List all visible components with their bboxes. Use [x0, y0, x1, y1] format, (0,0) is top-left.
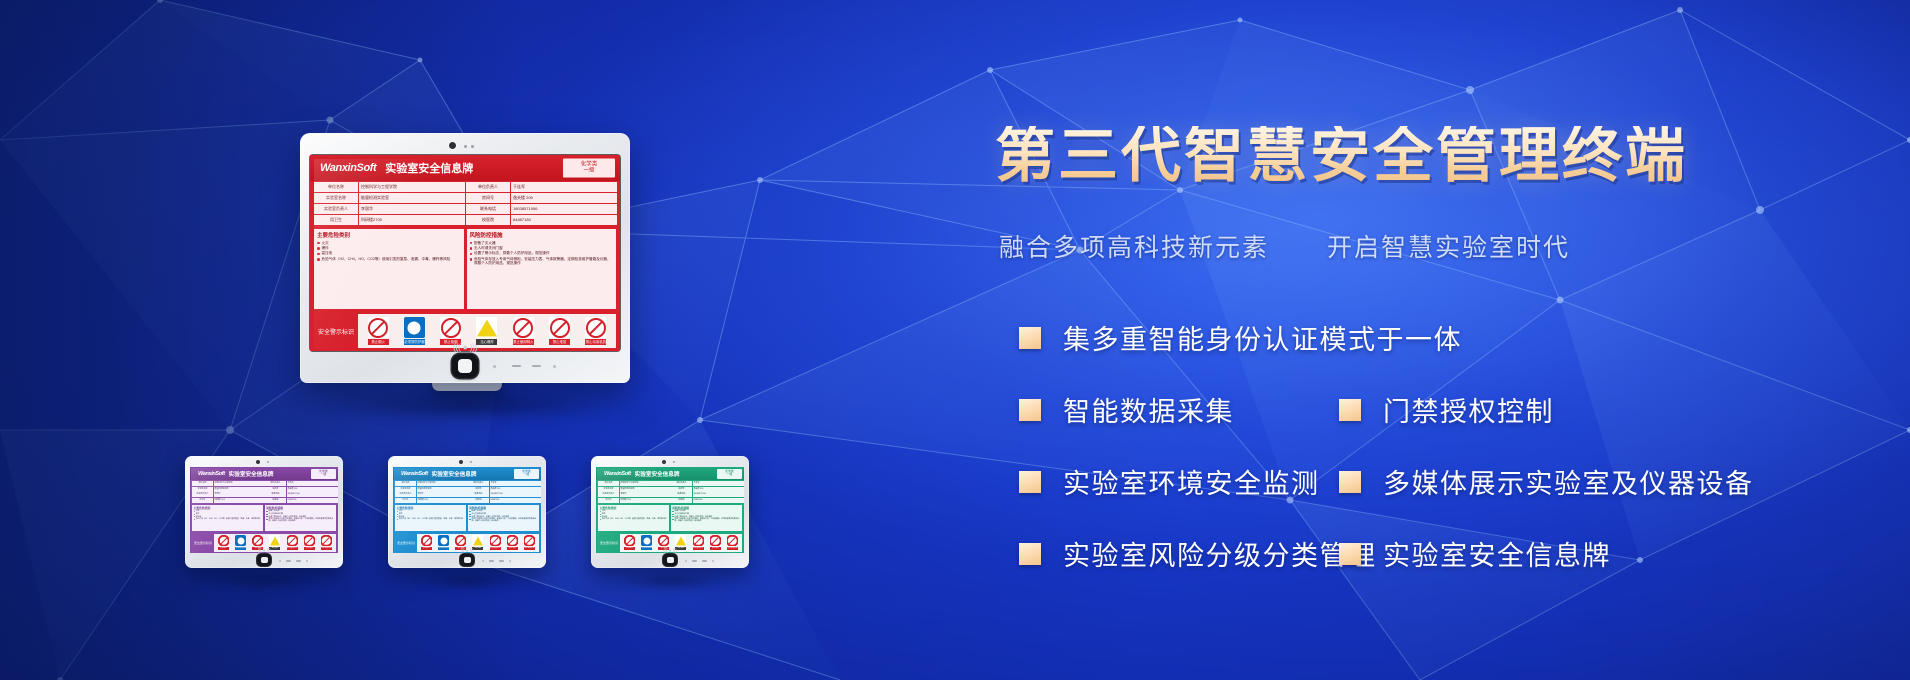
board-info-table: 单位名称控制科学与工程学院单位负责人于连军 实验室名称能量检测实验室房间号逸夫楼… [190, 480, 338, 503]
feature-item: 智能数据采集 [1019, 390, 1234, 429]
cell-key: 实验室负责人 [192, 492, 213, 497]
cell-key: 实验室负责人 [598, 492, 619, 497]
mandatory-icon [438, 535, 449, 546]
sign-caption: 禁止使用明火 [287, 547, 298, 550]
feature-label: 实验室风险分级分类管理 [1063, 534, 1377, 573]
section-heading: 风险防控措施 [469, 506, 537, 510]
cell-value: 84887180 [693, 498, 744, 503]
table-row: 单位名称控制科学与工程学院单位负责人于连军 [598, 481, 742, 486]
table-row: 实验室负责人李国华联系电话18038571956 [598, 492, 742, 497]
prohibit-icon [513, 317, 534, 338]
feature-list: 集多重智能身份认证模式于一体 智能数据采集 门禁授权控制 实验室环境安全监测 [1019, 318, 1879, 606]
list-item-text: 危险气体存放入专用气体储柜，安装压力表、气体报警器，定期检查维护管路及仪器，佩戴… [472, 518, 538, 522]
hero-text-column: 第三代智慧安全管理终端 融合多项高科技新元素开启智慧实验室时代 集多重智能身份认… [995, 0, 1895, 680]
hazard-class-badge: 化学类一级 [717, 469, 742, 479]
sign-caption: 禁止堆放 [710, 547, 721, 550]
cell-key: 实验室负责人 [395, 492, 416, 497]
cell-value: 科研楼2705 [620, 498, 671, 503]
page-subtitle: 融合多项高科技新元素开启智慧实验室时代 [999, 228, 1570, 264]
main-tablet-bezel: WanxinSoft 实验室安全信息牌 化学类 一级 单位名称 控制科学与工程学… [310, 155, 620, 351]
board-title: 实验室安全信息牌 [432, 470, 477, 478]
no-machine-use-sign: 禁止动用机具 [727, 535, 738, 550]
hazard-category-section: 主要危险类别火灾爆炸高压电危险气体（H2、CH4、HO、CO2等）使用引发的窒息… [598, 505, 669, 532]
risk-control-section: 风险防控措施配备了灭火器无人时请关闭门窗设置了警示标志，穿戴个人防护用品，规范操… [468, 505, 539, 532]
prohibit-icon [524, 535, 535, 546]
prohibit-icon [658, 535, 669, 546]
feature-label: 实验室环境安全监测 [1063, 462, 1320, 501]
cell-value: 于连军 [693, 481, 744, 486]
no-open-flame-sign: 禁止使用明火 [513, 317, 534, 345]
section-heading: 主要危险类别 [600, 506, 668, 510]
subtitle-left: 融合多项高科技新元素 [999, 234, 1269, 262]
cell-value: 逸夫楼 205 [490, 487, 541, 492]
sign-caption: 禁止动用机具 [727, 547, 738, 550]
sign-caption: 禁止动用机具 [585, 339, 606, 345]
list-item-text: 无人时请关闭门窗 [474, 246, 613, 250]
list-item-text: 配备了灭火器 [474, 241, 613, 245]
table-row: 实验室名称能量检测实验室房间号逸夫楼 205 [598, 487, 742, 492]
bullet-square-icon [1019, 399, 1041, 421]
list-item: 高压电 [317, 251, 461, 255]
fingerprint-home-button[interactable] [460, 554, 474, 566]
board-header: WanxinSoft 实验室安全信息牌 化学类 一级 [310, 155, 620, 181]
cell-value: 84887180 [287, 498, 338, 503]
cell-value: 控制科学与工程学院 [359, 182, 465, 192]
no-open-flame-sign: 禁止使用明火 [490, 535, 501, 550]
cell-key: 单位名称 [314, 182, 358, 192]
cell-key: 房间号 [671, 487, 692, 492]
warning-triangle-icon [269, 535, 280, 546]
cell-key: 实验室名称 [598, 487, 619, 492]
sign-caption: 禁止动用机具 [524, 547, 535, 550]
cell-value: 科研楼2705 [417, 498, 468, 503]
cell-value: 逸夫楼 205 [693, 487, 744, 492]
hazard-category-section: 主要危险类别 火灾 爆炸 高压电 危险气体（H2、CH4、HO、CO2等）使用引… [314, 229, 464, 309]
sign-caption: 必须穿防护服 [404, 339, 425, 345]
indicator-dot [493, 365, 496, 368]
cell-value: 84887180 [490, 498, 541, 503]
section-heading: 主要危险类别 [317, 231, 461, 239]
hazard-class-line2: 一级 [321, 472, 327, 476]
hazard-class-line2: 一级 [583, 168, 594, 174]
cell-value: 能量检测实验室 [417, 487, 468, 492]
table-row: 实验室负责人 李国华 联系电话 18038571956 [314, 204, 616, 214]
feature-item: 实验室风险分级分类管理 [1019, 534, 1377, 573]
indicator-dots [482, 560, 511, 562]
hero-banner: WanxinSoft 实验室安全信息牌 化学类 一级 单位名称 控制科学与工程学… [0, 0, 1910, 680]
cell-key: 单位负责人 [468, 481, 489, 486]
mandatory-icon [641, 535, 652, 546]
no-open-flame-sign: 禁止使用明火 [693, 535, 704, 550]
prohibit-icon [455, 535, 466, 546]
cell-value: 于连军 [287, 481, 338, 486]
bullet-square-icon [1339, 543, 1361, 565]
board-sections: 主要危险类别火灾爆炸高压电危险气体（H2、CH4、HO、CO2等）使用引发的窒息… [393, 503, 541, 532]
list-item-text: 高压电 [322, 251, 461, 255]
list-item: 无人时请关闭门窗 [470, 246, 614, 250]
mini-tablet-shadow [191, 570, 337, 592]
section-heading: 风险防控措施 [470, 231, 614, 239]
prohibit-icon [549, 317, 570, 338]
prohibit-icon [490, 535, 501, 546]
no-open-flame-sign: 禁止使用明火 [287, 535, 298, 550]
feature-item: 门禁授权控制 [1339, 390, 1554, 429]
cell-key: 房间号 [466, 193, 510, 203]
no-smoking-sign: 禁止烟火 [218, 535, 229, 550]
list-item-text: 危险气体存放入专用气体储柜，安装压力表、气体报警器，定期检查维护管路及仪器，佩戴… [675, 518, 741, 522]
sign-caption: 禁止烟火 [368, 339, 389, 345]
camera-icon [256, 460, 260, 464]
risk-control-section: 风险防控措施 配备了灭火器 无人时请关闭门窗 设置了警示标志，穿戴个人防护用品，… [467, 229, 617, 309]
board-sections: 主要危险类别火灾爆炸高压电危险气体（H2、CH4、HO、CO2等）使用引发的窒息… [596, 503, 744, 532]
feature-row: 集多重智能身份认证模式于一体 [1019, 318, 1879, 390]
cell-key: 联系电话 [466, 204, 510, 214]
cell-key: 单位负责人 [265, 481, 286, 486]
fingerprint-home-button[interactable] [257, 554, 271, 566]
warning-label: 安全警示标识 [314, 327, 358, 336]
feature-item: 多媒体展示实验室及仪器设备 [1339, 462, 1754, 501]
no-stacking-sign: 禁止堆放 [507, 535, 518, 550]
board-sections: 主要危险类别 火灾 爆炸 高压电 危险气体（H2、CH4、HO、CO2等）使用引… [310, 226, 620, 311]
cell-key: 联系电话 [671, 492, 692, 497]
no-smoking-sign: 禁止烟火 [421, 535, 432, 550]
cell-value: 科研楼2705 [359, 215, 465, 225]
mandatory-icon [404, 317, 425, 338]
prohibit-icon [321, 535, 332, 546]
section-heading: 风险防控措施 [672, 506, 740, 510]
sign-caption: 禁止使用明火 [693, 547, 704, 550]
board-title: 实验室安全信息牌 [385, 160, 473, 176]
risk-control-section: 风险防控措施配备了灭火器无人时请关闭门窗设置了警示标志，穿戴个人防护用品，规范操… [265, 505, 336, 532]
sensor-icon [464, 145, 467, 148]
sign-caption: 必须穿防护服 [438, 547, 449, 550]
wanxinsoft-logo: WanxinSoft [604, 471, 631, 477]
sign-caption: 禁止堆放 [507, 547, 518, 550]
cell-key: 单位名称 [192, 481, 213, 486]
sign-caption: 禁止堆放 [549, 339, 570, 345]
hazard-class-line2: 一级 [524, 472, 530, 476]
mini-tablet-shadow [394, 570, 540, 592]
cell-value: 李国华 [620, 492, 671, 497]
list-item-text: 设置了警示标志，穿戴个人防护用品，规范操作 [474, 251, 613, 255]
sensor-icon [470, 461, 472, 463]
cell-key: 单位负责人 [466, 182, 510, 192]
table-row: 用卫生科研楼2705校医院84887180 [192, 498, 336, 503]
section-heading: 主要危险类别 [194, 506, 262, 510]
bullet-square-icon [1339, 399, 1361, 421]
list-item-text: 危险气体（H2、CH4、HO、CO2等）使用引发的窒息、泄漏、中毒、爆炸等风险 [602, 518, 668, 520]
board-title: 实验室安全信息牌 [635, 470, 680, 478]
list-item: 危险气体存放入专用气体储柜，安装压力表、气体报警器，定期检查维护管路及仪器，佩戴… [672, 518, 740, 522]
cell-value: 逸夫楼 205 [511, 193, 617, 203]
indicator-dot [553, 365, 556, 368]
no-machine-use-sign: 禁止动用机具 [585, 317, 606, 345]
cell-value: 控制科学与工程学院 [620, 481, 671, 486]
feature-row: 实验室环境安全监测 多媒体展示实验室及仪器设备 [1019, 462, 1879, 534]
cell-value: 于连军 [511, 182, 617, 192]
mini-tablet-bezel: WanxinSoft实验室安全信息牌化学类一级 单位名称控制科学与工程学院单位负… [190, 467, 338, 553]
prohibit-icon [304, 535, 315, 546]
list-item-text: 危险气体（H2、CH4、HO、CO2等）使用引发的窒息、泄漏、中毒、爆炸等风险 [399, 518, 465, 520]
cell-key: 用卫生 [395, 498, 416, 503]
prohibit-icon [440, 317, 461, 338]
board-sections: 主要危险类别火灾爆炸高压电危险气体（H2、CH4、HO、CO2等）使用引发的窒息… [190, 503, 338, 532]
safety-info-board: WanxinSoft 实验室安全信息牌 化学类 一级 单位名称 控制科学与工程学… [310, 155, 620, 351]
protective-clothes-sign: 必须穿防护服 [404, 317, 425, 345]
board-info-table: 单位名称控制科学与工程学院单位负责人于连军 实验室名称能量检测实验室房间号逸夫楼… [393, 480, 541, 503]
cell-value: 18038571956 [490, 492, 541, 497]
cell-key: 实验室名称 [192, 487, 213, 492]
table-row: 单位名称 控制科学与工程学院 单位负责人 于连军 [314, 182, 616, 192]
camera-icon [662, 460, 666, 464]
table-row: 实验室负责人李国华联系电话18038571956 [395, 492, 539, 497]
cell-value: 84887180 [511, 215, 617, 225]
list-item: 危险气体（H2、CH4、HO、CO2等）使用引发的窒息、泄漏、中毒、爆炸等风险 [397, 518, 465, 520]
board-info-table: 单位名称 控制科学与工程学院 单位负责人 于连军 实验室名称 能量检测实验室 房… [310, 181, 620, 226]
wanxinsoft-logo: WanxinSoft [320, 162, 376, 174]
feature-row: 实验室风险分级分类管理 实验室安全信息牌 [1019, 534, 1879, 606]
hazard-category-section: 主要危险类别火灾爆炸高压电危险气体（H2、CH4、HO、CO2等）使用引发的窒息… [192, 505, 263, 532]
list-item: 火灾 [317, 241, 461, 245]
hazard-category-section: 主要危险类别火灾爆炸高压电危险气体（H2、CH4、HO、CO2等）使用引发的窒息… [395, 505, 466, 532]
mini-tablet-green: WanxinSoft实验室安全信息牌化学类一级 单位名称控制科学与工程学院单位负… [591, 456, 749, 568]
cell-value: 于连军 [490, 481, 541, 486]
cell-value: 李国华 [417, 492, 468, 497]
feature-item: 集多重智能身份认证模式于一体 [1019, 318, 1462, 357]
warning-label: 安全警示标识 [598, 541, 620, 545]
list-item-text: 火灾 [322, 241, 461, 245]
fingerprint-home-button[interactable] [452, 354, 478, 378]
no-machine-use-sign: 禁止动用机具 [321, 535, 332, 550]
main-tablet: WanxinSoft 实验室安全信息牌 化学类 一级 单位名称 控制科学与工程学… [300, 133, 630, 383]
bullet-square-icon [1019, 543, 1041, 565]
safety-info-board-green: WanxinSoft实验室安全信息牌化学类一级 单位名称控制科学与工程学院单位负… [596, 467, 744, 553]
warning-label: 安全警示标识 [192, 541, 214, 545]
indicator-dots [279, 560, 308, 562]
list-item-text: 危险气体（H2、CH4、HO、CO2等）使用引发的窒息、泄漏、中毒、爆炸等风险 [196, 518, 262, 520]
list-item: 配备了灭火器 [470, 241, 614, 245]
risk-control-section: 风险防控措施配备了灭火器无人时请关闭门窗设置了警示标志，穿戴个人防护用品，规范操… [671, 505, 742, 532]
mini-tablet-bezel: WanxinSoft实验室安全信息牌化学类一级 单位名称控制科学与工程学院单位负… [596, 467, 744, 553]
warning-triangle-icon [472, 535, 483, 546]
camera-icon [459, 460, 463, 464]
cell-key: 校医院 [468, 498, 489, 503]
table-row: 实验室负责人李国华联系电话18038571956 [192, 492, 336, 497]
section-heading: 风险防控措施 [266, 506, 334, 510]
list-item: 危险气体（H2、CH4、HO、CO2等）使用引发的窒息、泄漏、中毒、爆炸等风险 [317, 257, 461, 261]
prohibit-icon [421, 535, 432, 546]
prohibit-icon [693, 535, 704, 546]
bullet-square-icon [1019, 327, 1041, 349]
mini-tablet-blue: WanxinSoft实验室安全信息牌化学类一级 单位名称控制科学与工程学院单位负… [388, 456, 546, 568]
warning-triangle-icon [476, 317, 497, 338]
prohibit-icon [368, 317, 389, 338]
nfc-icon: ((( ● ))) [439, 341, 491, 353]
cell-value: 控制科学与工程学院 [417, 481, 468, 486]
list-item: 危险气体（H2、CH4、HO、CO2等）使用引发的窒息、泄漏、中毒、爆炸等风险 [194, 518, 262, 520]
cell-value: 18038571956 [693, 492, 744, 497]
sign-caption: 必须穿防护服 [641, 547, 652, 550]
prohibit-icon [585, 317, 606, 338]
sensor-icon [267, 461, 269, 463]
cell-key: 校医院 [265, 498, 286, 503]
list-item-text: 危险气体（H2、CH4、HO、CO2等）使用引发的窒息、泄漏、中毒、爆炸等风险 [322, 257, 461, 261]
mandatory-icon [235, 535, 246, 546]
hazard-class-badge: 化学类一级 [514, 469, 539, 479]
sign-caption: 禁止动用机具 [321, 547, 332, 550]
feature-item: 实验室环境安全监测 [1019, 462, 1320, 501]
sensor-icon [673, 461, 675, 463]
sensor-icon [471, 145, 474, 148]
no-smoking-sign: 禁止烟火 [368, 317, 389, 345]
sign-caption: 禁止堆放 [304, 547, 315, 550]
cell-value: 能量检测实验室 [620, 487, 671, 492]
list-item: 危险气体存放入专用气体储柜，安装压力表、气体报警器，定期检查维护管路及仪器，佩戴… [266, 518, 334, 522]
indicator-dash [532, 365, 541, 368]
subtitle-right: 开启智慧实验室时代 [1327, 234, 1570, 262]
cell-key: 房间号 [265, 487, 286, 492]
hazard-class-badge: 化学类 一级 [563, 159, 615, 178]
feature-label: 集多重智能身份认证模式于一体 [1063, 318, 1462, 357]
prohibit-icon [252, 535, 263, 546]
bullet-square-icon [1339, 471, 1361, 493]
no-stacking-sign: 禁止堆放 [304, 535, 315, 550]
list-item: 危险气体（H2、CH4、HO、CO2等）使用引发的窒息、泄漏、中毒、爆炸等风险 [600, 518, 668, 520]
prohibit-icon [507, 535, 518, 546]
table-row: 用卫生科研楼2705校医院84887180 [395, 498, 539, 503]
fingerprint-home-button[interactable] [663, 554, 677, 566]
cell-value: 18038571956 [287, 492, 338, 497]
cell-value: 能量检测实验室 [359, 193, 465, 203]
hazard-class-badge: 化学类一级 [311, 469, 336, 479]
table-row: 单位名称控制科学与工程学院单位负责人于连军 [395, 481, 539, 486]
cell-key: 联系电话 [468, 492, 489, 497]
cell-value: 18038571956 [511, 204, 617, 214]
feature-row: 智能数据采集 门禁授权控制 [1019, 390, 1879, 462]
cell-key: 校医院 [466, 215, 510, 225]
cell-key: 用卫生 [192, 498, 213, 503]
cell-key: 实验室负责人 [314, 204, 358, 214]
indicator-dots [685, 560, 714, 562]
list-item-text: 危险气体存放入专用气体储柜，安装压力表、气体报警器，定期检查维护管路及仪器，佩戴… [269, 518, 335, 522]
cell-key: 用卫生 [598, 498, 619, 503]
cell-value: 李国华 [214, 492, 265, 497]
sign-caption: 禁止使用明火 [513, 339, 534, 345]
list-item: 设置了警示标志，穿戴个人防护用品，规范操作 [470, 251, 614, 255]
sign-caption: 禁止使用明火 [490, 547, 501, 550]
wanxinsoft-logo: WanxinSoft [198, 471, 225, 477]
cell-key: 实验室名称 [314, 193, 358, 203]
camera-icon [449, 142, 456, 149]
prohibit-icon [624, 535, 635, 546]
sign-caption: 禁止烟火 [624, 547, 635, 550]
feature-label: 智能数据采集 [1063, 390, 1234, 429]
cell-key: 单位名称 [395, 481, 416, 486]
warning-triangle-icon [675, 535, 686, 546]
protective-clothes-sign: 必须穿防护服 [235, 535, 246, 550]
no-machine-use-sign: 禁止动用机具 [524, 535, 535, 550]
section-heading: 主要危险类别 [397, 506, 465, 510]
mini-tablet-shadow [597, 570, 743, 592]
sign-caption: 禁止烟火 [218, 547, 229, 550]
feature-label: 实验室安全信息牌 [1383, 534, 1611, 573]
list-item: 危险气体存放入专用气体储柜，安装压力表、气体报警器，定期检查维护管路及仪器，佩戴… [470, 257, 614, 266]
cell-key: 单位负责人 [671, 481, 692, 486]
cell-key: 房间号 [468, 487, 489, 492]
cell-key: 校医院 [671, 498, 692, 503]
no-stacking-sign: 禁止堆放 [549, 317, 570, 345]
feature-label: 门禁授权控制 [1383, 390, 1554, 429]
board-title: 实验室安全信息牌 [229, 470, 274, 478]
bullet-square-icon [1019, 471, 1041, 493]
table-row: 实验室名称能量检测实验室房间号逸夫楼 205 [192, 487, 336, 492]
feature-item: 实验室安全信息牌 [1339, 534, 1611, 573]
feature-label: 多媒体展示实验室及仪器设备 [1383, 462, 1754, 501]
board-info-table: 单位名称控制科学与工程学院单位负责人于连军 实验室名称能量检测实验室房间号逸夫楼… [596, 480, 744, 503]
cell-value: 科研楼2705 [214, 498, 265, 503]
page-title: 第三代智慧安全管理终端 [995, 126, 1688, 186]
cell-key: 实验室名称 [395, 487, 416, 492]
list-item-text: 危险气体存放入专用气体储柜，安装压力表、气体报警器，定期检查维护管路及仪器，佩戴… [474, 257, 613, 266]
cell-key: 用卫生 [314, 215, 358, 225]
list-item-text: 爆炸 [322, 246, 461, 250]
prohibit-icon [287, 535, 298, 546]
prohibit-icon [218, 535, 229, 546]
indicator-dash [512, 365, 521, 368]
table-row: 实验室名称能量检测实验室房间号逸夫楼 205 [395, 487, 539, 492]
cell-value: 李国华 [359, 204, 465, 214]
cell-key: 单位名称 [598, 481, 619, 486]
list-item: 危险气体存放入专用气体储柜，安装压力表、气体报警器，定期检查维护管路及仪器，佩戴… [469, 518, 537, 522]
table-row: 用卫生 科研楼2705 校医院 84887180 [314, 215, 616, 225]
safety-info-board-purple: WanxinSoft实验室安全信息牌化学类一级 单位名称控制科学与工程学院单位负… [190, 467, 338, 553]
cell-key: 联系电话 [265, 492, 286, 497]
no-smoking-sign: 禁止烟火 [624, 535, 635, 550]
cell-value: 逸夫楼 205 [287, 487, 338, 492]
no-stacking-sign: 禁止堆放 [710, 535, 721, 550]
table-row: 用卫生科研楼2705校医院84887180 [598, 498, 742, 503]
wanxinsoft-logo: WanxinSoft [401, 471, 428, 477]
table-row: 单位名称控制科学与工程学院单位负责人于连军 [192, 481, 336, 486]
mini-tablet-purple: WanxinSoft实验室安全信息牌化学类一级 单位名称控制科学与工程学院单位负… [185, 456, 343, 568]
protective-clothes-sign: 必须穿防护服 [438, 535, 449, 550]
warning-label: 安全警示标识 [395, 541, 417, 545]
mini-tablet-bezel: WanxinSoft实验室安全信息牌化学类一级 单位名称控制科学与工程学院单位负… [393, 467, 541, 553]
list-item: 爆炸 [317, 246, 461, 250]
protective-clothes-sign: 必须穿防护服 [641, 535, 652, 550]
prohibit-icon [710, 535, 721, 546]
sign-caption: 必须穿防护服 [235, 547, 246, 550]
cell-value: 能量检测实验室 [214, 487, 265, 492]
prohibit-icon [727, 535, 738, 546]
sign-caption: 禁止烟火 [421, 547, 432, 550]
hazard-class-line2: 一级 [727, 472, 733, 476]
safety-info-board-blue: WanxinSoft实验室安全信息牌化学类一级 单位名称控制科学与工程学院单位负… [393, 467, 541, 553]
cell-value: 控制科学与工程学院 [214, 481, 265, 486]
table-row: 实验室名称 能量检测实验室 房间号 逸夫楼 205 [314, 193, 616, 203]
